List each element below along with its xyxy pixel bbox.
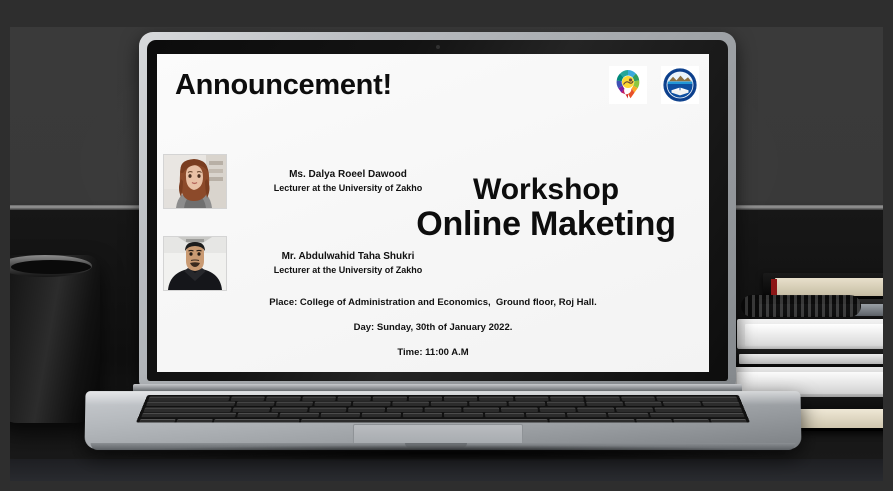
- slide-title: Announcement!: [175, 69, 392, 102]
- mug-rim: [10, 255, 92, 277]
- book-pages: [745, 324, 883, 346]
- screenshot-root: Announcement!: [0, 0, 893, 491]
- event-day: Day: Sunday, 30th of January 2022.: [157, 322, 709, 333]
- university-of-zakho-seal: [661, 66, 699, 104]
- spiral-binding: [741, 295, 861, 317]
- book-pages: [775, 278, 883, 296]
- presenter-role: Lecturer at the University of Zakho: [233, 265, 463, 275]
- laptop-keyboard[interactable]: [136, 395, 750, 422]
- laptop: Announcement!: [85, 27, 725, 447]
- event-details: Place: College of Administration and Eco…: [157, 297, 709, 372]
- screen-bezel: Announcement!: [147, 40, 728, 381]
- logo-group: [609, 66, 699, 104]
- presentation-slide[interactable]: Announcement!: [157, 54, 709, 372]
- book-bookmark: [771, 279, 777, 295]
- workshop-line-1: Workshop: [385, 174, 707, 206]
- key-row: [148, 396, 738, 400]
- key-row: [146, 402, 740, 406]
- presenter-name: Mr. Abdulwahid Taha Shukri: [233, 252, 463, 262]
- floor-strip: [10, 459, 883, 481]
- presenter-row: Mr. Abdulwahid Taha Shukri Lecturer at t…: [163, 240, 463, 298]
- event-place: Place: College of Administration and Eco…: [157, 297, 709, 308]
- presenter-photo: [163, 236, 227, 291]
- book-item: [731, 349, 883, 367]
- webcam-icon: [436, 45, 440, 49]
- key-row: [139, 419, 747, 423]
- presenter-photo: [163, 154, 227, 209]
- key-row: [141, 413, 744, 417]
- colorful-circle-logo: [609, 66, 647, 104]
- workshop-heading: Workshop Online Maketing: [385, 174, 707, 242]
- key-row: [144, 407, 743, 411]
- mug-interior: [11, 260, 91, 274]
- photo-scene: Announcement!: [10, 27, 883, 481]
- laptop-base: [84, 391, 801, 449]
- laptop-lid: Announcement!: [139, 32, 736, 387]
- workshop-line-2: Online Maketing: [385, 206, 707, 242]
- book-item: [737, 319, 883, 349]
- book-pages: [739, 354, 883, 364]
- laptop-shadow: [105, 445, 785, 461]
- event-time: Time: 11:00 A.M: [157, 347, 709, 358]
